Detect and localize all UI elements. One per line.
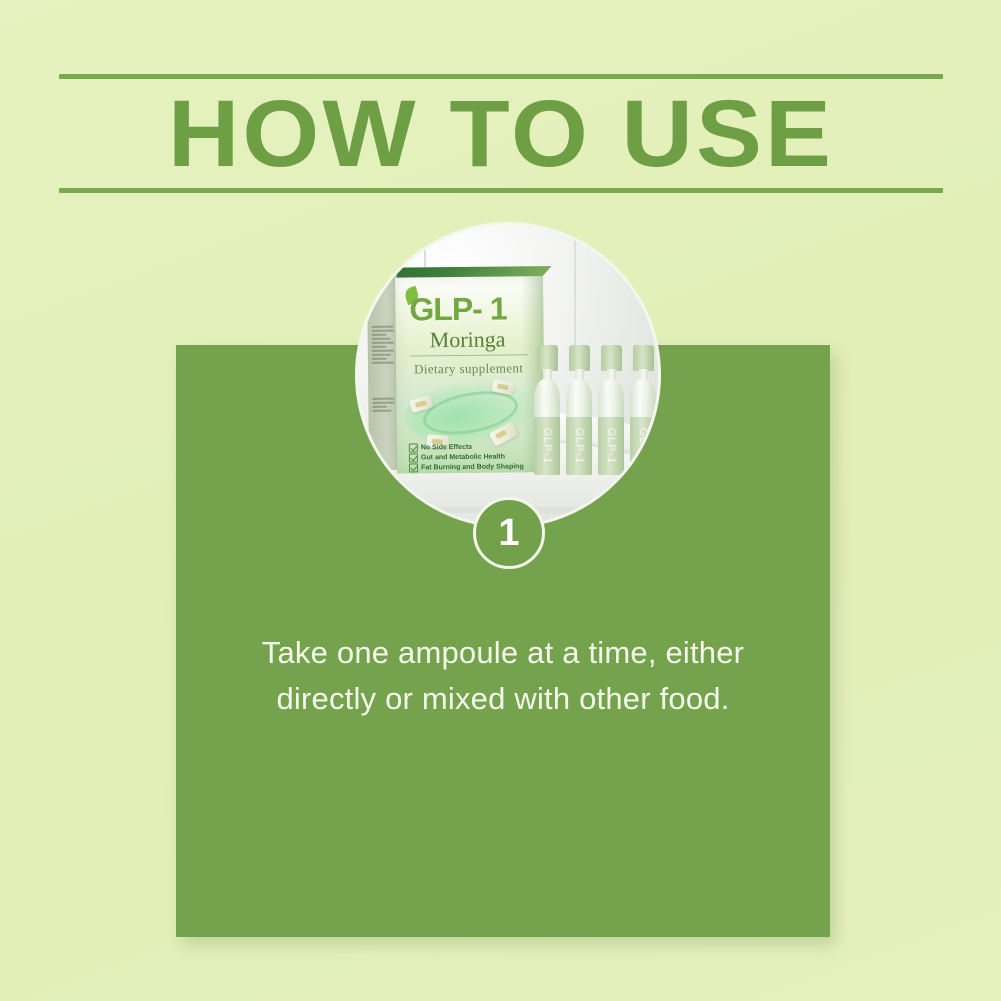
ampoule: GLP-1 <box>566 345 592 475</box>
benefit-item: Fat Burning and Body Shaping <box>409 462 524 472</box>
ampoule: GLP-1 <box>598 345 624 475</box>
product-photo: GLP- 1 Moringa Dietary supplement No Sid… <box>358 225 658 525</box>
ampoule-group: GLP-1 GLP-1 <box>534 345 661 487</box>
check-icon <box>409 463 418 472</box>
step-caption-line-1: Take one ampoule at a time, either <box>206 630 800 676</box>
ampoule-body: GLP-1 <box>566 379 592 475</box>
product-category: Dietary supplement <box>414 360 524 377</box>
benefit-label: No Side Effects <box>421 443 472 452</box>
step-caption-line-2: directly or mixed with other food. <box>206 676 800 722</box>
ampoule-label-text: GLP-1 <box>573 428 585 465</box>
check-icon <box>409 443 418 452</box>
brand-name: GLP- 1 <box>409 290 507 328</box>
ampoule-body: GLP-1 <box>598 379 624 475</box>
benefit-item: Gut and Metabolic Health <box>409 452 524 462</box>
check-icon <box>409 453 418 462</box>
benefit-label: Fat Burning and Body Shaping <box>421 463 524 472</box>
step-caption: Take one ampoule at a time, either direc… <box>206 630 800 722</box>
ampoule-cap <box>537 345 558 371</box>
carton-side-text-block-2 <box>372 398 394 412</box>
header: HOW TO USE <box>59 74 943 194</box>
ampoule-label-text: GLP-1 <box>541 428 553 465</box>
how-to-use-slide: HOW TO USE Take one ampoule at a time, e… <box>0 0 1001 1001</box>
carton-divider <box>410 354 528 356</box>
carton-side-face <box>367 274 399 470</box>
ampoule-label: GLP-1 <box>630 417 656 475</box>
benefit-list: No Side Effects Gut and Metabolic Health… <box>409 442 524 473</box>
ampoule: GLP-1 <box>630 345 656 475</box>
ampoule-label-text: GLP-1 <box>605 428 617 465</box>
carton-front-face: GLP- 1 Moringa Dietary supplement No Sid… <box>395 276 545 474</box>
ampoule-label: GLP-1 <box>534 417 560 475</box>
step-number-badge: 1 <box>473 497 545 569</box>
header-rule-top <box>59 74 943 79</box>
ampoule-cap <box>601 345 622 371</box>
benefit-label: Gut and Metabolic Health <box>421 453 505 462</box>
product-photo-circle: GLP- 1 Moringa Dietary supplement No Sid… <box>355 222 661 528</box>
ampoule: GLP-1 <box>534 345 560 475</box>
ampoule-cap <box>633 345 654 371</box>
ampoule-label-text: GLP-1 <box>637 428 649 465</box>
ampoule-label: GLP-1 <box>598 417 624 475</box>
background-seam-right <box>574 225 576 363</box>
product-carton: GLP- 1 Moringa Dietary supplement No Sid… <box>367 266 545 468</box>
sub-brand-name: Moringa <box>430 326 506 353</box>
ampoule-cap <box>569 345 590 371</box>
benefit-item: No Side Effects <box>409 442 524 452</box>
carton-side-text-block-1 <box>372 326 394 364</box>
ampoule-body: GLP-1 <box>534 379 560 475</box>
ampoule-body: GLP-1 <box>630 379 656 475</box>
page-title: HOW TO USE <box>41 80 960 188</box>
ampoule-label: GLP-1 <box>566 417 592 475</box>
header-rule-bottom <box>59 188 943 193</box>
